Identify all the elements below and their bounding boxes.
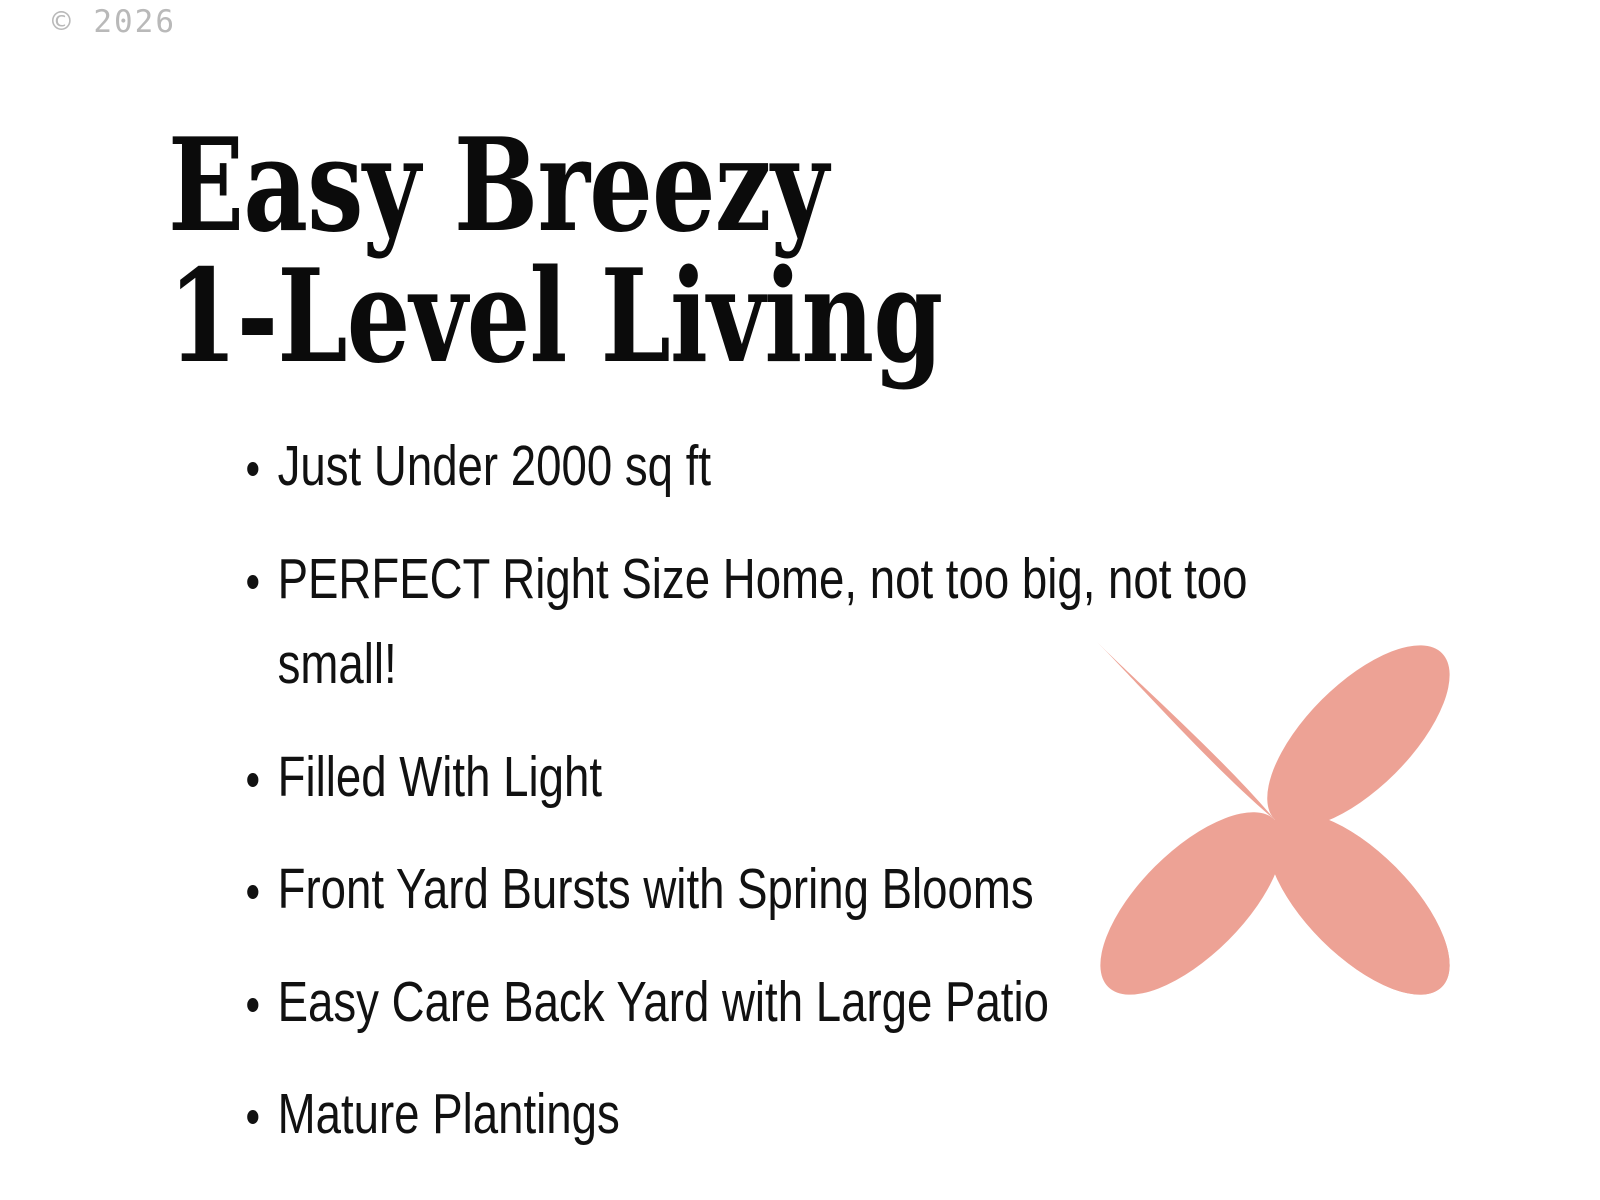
copyright-watermark: © 2026 <box>52 4 176 40</box>
bullet-dot-icon <box>247 885 258 899</box>
title-line-2: 1-Level Living <box>168 255 948 380</box>
list-item: Just Under 2000 sq ft <box>236 424 1376 510</box>
bullet-dot-icon <box>247 462 258 476</box>
page-title: Easy Breezy 1-Level Living <box>168 124 1168 381</box>
list-item-label: Filled With Light <box>278 745 602 809</box>
feature-bullet-list: Just Under 2000 sq ft PERFECT Right Size… <box>236 424 1376 1158</box>
bullet-dot-icon <box>247 773 258 787</box>
list-item: Filled With Light <box>236 735 1376 821</box>
list-item-label: Easy Care Back Yard with Large Patio <box>278 970 1049 1034</box>
bullet-dot-icon <box>247 998 258 1012</box>
list-item: Mature Plantings <box>236 1072 1376 1158</box>
list-item-label: Just Under 2000 sq ft <box>278 434 711 498</box>
bullet-dot-icon <box>247 575 258 589</box>
slide-canvas: © 2026 Easy Breezy 1-Level Living Just U… <box>0 0 1600 1200</box>
list-item-label: Mature Plantings <box>278 1082 620 1146</box>
bullet-dot-icon <box>247 1110 258 1124</box>
list-item-label: PERFECT Right Size Home, not too big, no… <box>278 547 1248 697</box>
list-item: Front Yard Bursts with Spring Blooms <box>236 847 1376 933</box>
list-item-label: Front Yard Bursts with Spring Blooms <box>278 857 1034 921</box>
title-line-1: Easy Breezy <box>168 124 948 249</box>
list-item: PERFECT Right Size Home, not too big, no… <box>236 537 1376 708</box>
list-item: Easy Care Back Yard with Large Patio <box>236 960 1376 1046</box>
